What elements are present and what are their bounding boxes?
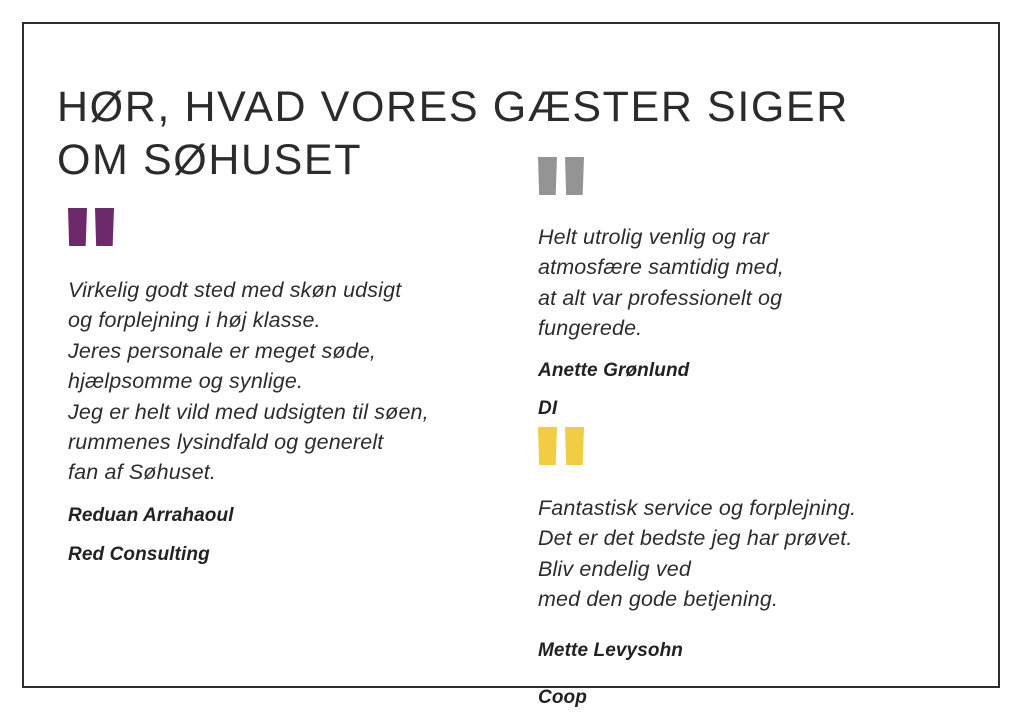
testimonial-author-company: Red Consulting <box>68 543 518 566</box>
testimonial-panel-frame: HØR, HVAD VORES GÆSTER SIGER OM SØHUSET … <box>22 22 1000 688</box>
quote-mark-icon <box>538 427 585 465</box>
quote-mark-icon <box>538 157 585 195</box>
testimonial-quote: Helt utrolig venlig og rar atmosfære sam… <box>538 222 938 344</box>
quote-mark-icon <box>68 208 115 246</box>
testimonial-quote: Virkelig godt sted med skøn udsigt og fo… <box>68 275 518 488</box>
testimonial-author-company: Coop <box>538 686 978 709</box>
testimonial-author-name: Reduan Arrahaoul <box>68 504 518 527</box>
testimonial-author-name: Mette Levysohn <box>538 639 978 662</box>
testimonial-quote: Fantastisk service og forplejning. Det e… <box>538 493 978 615</box>
testimonial-card-top-right: Helt utrolig venlig og rar atmosfære sam… <box>538 157 938 420</box>
testimonial-author-company: DI <box>538 397 938 420</box>
testimonial-card-left: Virkelig godt sted med skøn udsigt og fo… <box>68 208 518 566</box>
testimonial-author-name: Anette Grønlund <box>538 359 938 382</box>
testimonial-card-bottom-right: Fantastisk service og forplejning. Det e… <box>538 427 978 709</box>
